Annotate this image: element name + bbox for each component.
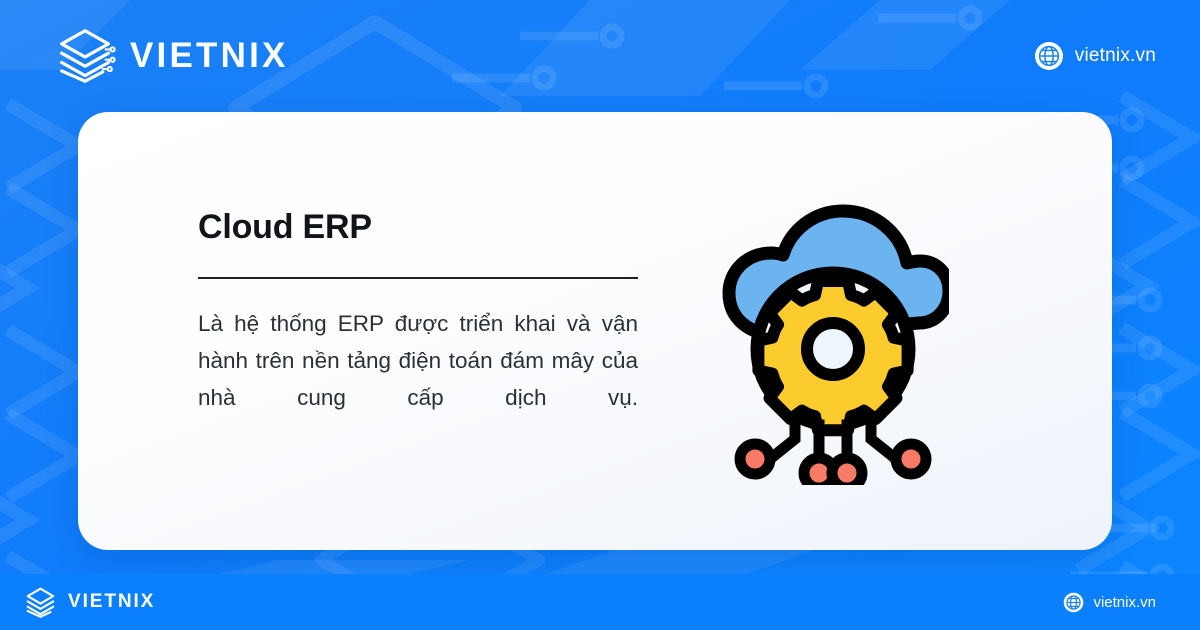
footer-wordmark: VIETNIX [68, 591, 155, 613]
vietnix-layers-logo-icon [24, 586, 58, 619]
header-brand[interactable]: VIETNIX [56, 27, 289, 85]
site-url-text: vietnix.vn [1075, 45, 1156, 67]
header-site-link[interactable]: vietnix.vn [1034, 41, 1156, 71]
card-text-column: Cloud ERP Là hệ thống ERP được triển kha… [78, 209, 638, 452]
footer-brand[interactable]: VIETNIX [24, 586, 155, 619]
footer-bar: VIETNIX vietnix.vn [0, 574, 1200, 630]
globe-icon [1063, 592, 1084, 613]
content-card: Cloud ERP Là hệ thống ERP được triển kha… [78, 112, 1112, 550]
cloud-gear-network-icon [717, 177, 949, 485]
page-title: Cloud ERP [198, 209, 638, 246]
title-divider [198, 277, 638, 279]
description-text: Là hệ thống ERP được triển khai và vận h… [198, 305, 638, 453]
globe-icon [1034, 41, 1064, 71]
card-illustration [638, 177, 1112, 485]
infographic-canvas: VIETNIX vietnix.vn Cloud ERP Là hệ thống… [0, 0, 1200, 630]
vietnix-layers-logo-icon [56, 27, 116, 85]
header-bar: VIETNIX vietnix.vn [0, 0, 1200, 112]
footer-site-link[interactable]: vietnix.vn [1063, 592, 1156, 613]
brand-wordmark: VIETNIX [130, 36, 289, 76]
footer-site-url-text: vietnix.vn [1093, 594, 1156, 611]
